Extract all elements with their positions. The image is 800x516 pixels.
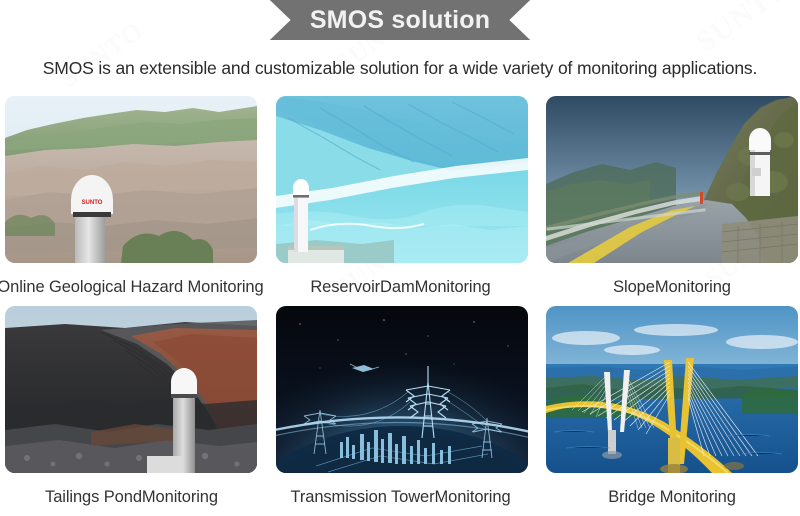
solution-card[interactable]: ReservoirDamMonitoring (267, 96, 534, 306)
solution-card[interactable]: SlopeMonitoring (534, 96, 800, 306)
solution-card-grid: SUNTO Online Geological Hazard Monitorin… (0, 96, 800, 516)
ribbon-banner: SMOS solution (270, 0, 530, 40)
card-label: Transmission TowerMonitoring (290, 488, 510, 507)
night-earth-transmission-image (276, 306, 528, 473)
solution-card[interactable]: Transmission TowerMonitoring (267, 306, 534, 516)
card-label: Tailings PondMonitoring (45, 488, 218, 507)
solution-card[interactable]: Bridge Monitoring (534, 306, 800, 516)
card-thumbnail-slope (546, 96, 798, 263)
page-title: SMOS solution (310, 0, 490, 40)
quarry-hillside-image: SUNTO (5, 96, 257, 263)
card-thumbnail-reservoir-dam (276, 96, 528, 263)
card-label: ReservoirDamMonitoring (310, 278, 490, 297)
open-pit-mine-image (5, 306, 257, 473)
mountain-highway-image (546, 96, 798, 263)
solution-card[interactable]: Tailings PondMonitoring (0, 306, 267, 516)
card-thumbnail-tailings-pond (5, 306, 257, 473)
card-thumbnail-bridge (546, 306, 798, 473)
card-label: Online Geological Hazard Monitoring (0, 278, 264, 297)
solution-card[interactable]: SUNTO Online Geological Hazard Monitorin… (0, 96, 267, 306)
card-label: SlopeMonitoring (613, 278, 731, 297)
intro-text: SMOS is an extensible and customizable s… (0, 58, 800, 79)
card-label: Bridge Monitoring (608, 488, 736, 507)
svg-text:SUNTO: SUNTO (81, 200, 102, 206)
section-header: SMOS solution (0, 0, 800, 46)
cable-stayed-bridge-image (546, 306, 798, 473)
card-thumbnail-online-geological-hazard: SUNTO (5, 96, 257, 263)
card-thumbnail-transmission-tower (276, 306, 528, 473)
reservoir-lake-image (276, 96, 528, 263)
